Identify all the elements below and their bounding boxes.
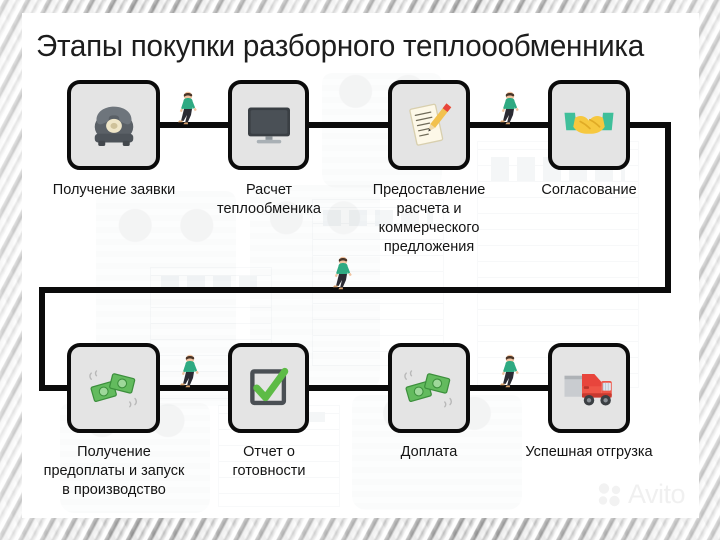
step-label-4: Согласование [514, 181, 664, 200]
step-label-6: Отчет о готовности [208, 443, 330, 481]
monitor-icon [241, 100, 297, 150]
notepad-pencil-icon [401, 100, 457, 150]
step-label-1: Получение заявки [22, 181, 214, 200]
walking-person-icon [499, 91, 521, 125]
step-box-5[interactable] [67, 343, 160, 433]
step-box-7[interactable] [388, 343, 470, 433]
checkbox-icon [241, 363, 297, 413]
step-label-5: Получение предоплаты и запуск в производ… [24, 443, 204, 500]
walking-person-icon [177, 91, 199, 125]
step-box-8[interactable] [548, 343, 630, 433]
step-box-1[interactable] [67, 80, 160, 170]
step-label-8: Успешная отгрузка [514, 443, 664, 462]
walking-person-icon [179, 354, 201, 388]
avito-dots-icon [597, 482, 623, 508]
step-label-7: Доплата [374, 443, 484, 462]
screenshot-root: Этапы покупки разборного теплоообменника [0, 0, 720, 540]
walking-person-icon [499, 354, 521, 388]
money-icon [401, 363, 457, 413]
money-icon [86, 363, 142, 413]
avito-watermark: Avito [597, 481, 685, 508]
telephone-icon [86, 100, 142, 150]
step-box-4[interactable] [548, 80, 630, 170]
avito-watermark-text: Avito [628, 481, 685, 508]
truck-icon [561, 363, 617, 413]
infographic-card: Этапы покупки разборного теплоообменника [22, 13, 699, 518]
step-label-2: Расчет теплообменика [204, 181, 334, 219]
step-box-2[interactable] [228, 80, 309, 170]
walking-person-icon [332, 256, 354, 290]
step-label-3: Предоставление расчета и коммерческого п… [355, 181, 503, 257]
step-box-3[interactable] [388, 80, 470, 170]
step-box-6[interactable] [228, 343, 309, 433]
handshake-icon [561, 100, 617, 150]
